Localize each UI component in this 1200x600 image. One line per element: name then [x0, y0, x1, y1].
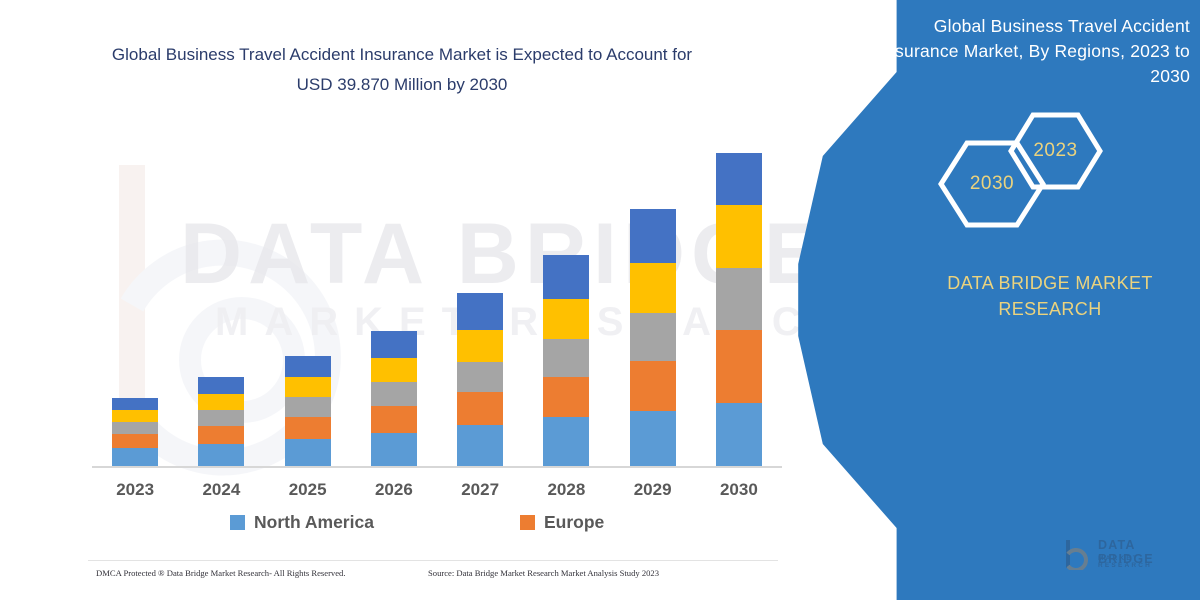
bar-segment-2027-2[interactable] — [457, 392, 503, 425]
bar-segment-2030-3[interactable] — [716, 268, 762, 330]
panel-logo-tagline: MARKET RESEARCH — [1098, 555, 1192, 569]
bar-segment-2030-4[interactable] — [716, 205, 762, 268]
bar-segment-2029-2[interactable] — [630, 361, 676, 411]
bar-segment-2027-4[interactable] — [457, 330, 503, 362]
bar-segment-2026-2[interactable] — [371, 406, 417, 433]
bar-2024[interactable] — [198, 377, 244, 466]
bar-2025[interactable] — [285, 356, 331, 466]
legend-label: North America — [254, 512, 374, 533]
x-axis-labels: 20232024202520262027202820292030 — [92, 480, 782, 506]
bar-segment-2023-4[interactable] — [112, 410, 158, 422]
bar-2026[interactable] — [371, 331, 417, 466]
bar-segment-2025-4[interactable] — [285, 377, 331, 397]
bar-segment-2030-5[interactable] — [716, 153, 762, 205]
x-axis-label-2026: 2026 — [359, 480, 429, 500]
hex-badge-2030: 2030 — [938, 140, 1046, 228]
bar-segment-2029-1[interactable] — [630, 411, 676, 466]
bar-segment-2023-1[interactable] — [112, 448, 158, 466]
chart-legend: North AmericaEurope — [230, 512, 700, 540]
legend-item-north-america[interactable]: North America — [230, 512, 374, 533]
bar-segment-2024-1[interactable] — [198, 444, 244, 466]
hex-badge-group: 2023 2030 — [930, 112, 1110, 222]
x-axis-label-2027: 2027 — [445, 480, 515, 500]
bar-segment-2026-5[interactable] — [371, 331, 417, 358]
panel-title: Global Business Travel Accident Insuranc… — [860, 14, 1190, 89]
bar-segment-2024-2[interactable] — [198, 426, 244, 444]
x-axis-label-2028: 2028 — [531, 480, 601, 500]
bar-segment-2025-5[interactable] — [285, 356, 331, 377]
bar-segment-2024-4[interactable] — [198, 394, 244, 410]
bar-segment-2029-4[interactable] — [630, 263, 676, 313]
panel-logo: DATA BRIDGE MARKET RESEARCH — [1062, 536, 1192, 576]
bar-segment-2030-2[interactable] — [716, 330, 762, 403]
bar-segment-2026-1[interactable] — [371, 433, 417, 466]
hex-badge-2023-label: 2023 — [1033, 140, 1077, 162]
bar-segment-2024-5[interactable] — [198, 377, 244, 394]
bar-segment-2027-3[interactable] — [457, 362, 503, 392]
bar-group — [92, 120, 782, 466]
x-axis-label-2024: 2024 — [186, 480, 256, 500]
chart-plot-area — [92, 120, 782, 470]
bar-2030[interactable] — [716, 153, 762, 466]
bar-segment-2028-1[interactable] — [543, 417, 589, 466]
bar-segment-2025-2[interactable] — [285, 417, 331, 439]
bar-2029[interactable] — [630, 209, 676, 466]
footer-source: Source: Data Bridge Market Research Mark… — [428, 568, 659, 578]
bar-segment-2027-1[interactable] — [457, 425, 503, 466]
bar-segment-2027-5[interactable] — [457, 293, 503, 330]
bar-segment-2028-2[interactable] — [543, 377, 589, 417]
bar-2027[interactable] — [457, 293, 503, 466]
x-axis-label-2023: 2023 — [100, 480, 170, 500]
infographic-canvas: DATA BRIDGE MARKET RESEARCH Global Busin… — [0, 0, 1200, 600]
panel-brand-name: DATA BRIDGE MARKET RESEARCH — [905, 270, 1195, 322]
x-axis-label-2025: 2025 — [273, 480, 343, 500]
x-axis-line — [92, 466, 782, 468]
bar-segment-2028-5[interactable] — [543, 255, 589, 299]
legend-swatch-icon — [520, 515, 535, 530]
bar-segment-2023-2[interactable] — [112, 434, 158, 448]
bar-segment-2026-4[interactable] — [371, 358, 417, 382]
bar-2023[interactable] — [112, 398, 158, 466]
bar-segment-2025-3[interactable] — [285, 397, 331, 417]
bar-segment-2028-3[interactable] — [543, 339, 589, 377]
bar-2028[interactable] — [543, 255, 589, 466]
footer-copyright: DMCA Protected ® Data Bridge Market Rese… — [96, 568, 346, 578]
bar-segment-2029-5[interactable] — [630, 209, 676, 263]
bar-segment-2026-3[interactable] — [371, 382, 417, 406]
hex-badge-2030-label: 2030 — [970, 173, 1014, 195]
bar-segment-2023-5[interactable] — [112, 398, 158, 410]
bar-segment-2023-3[interactable] — [112, 422, 158, 434]
chart-title: Global Business Travel Accident Insuranc… — [92, 40, 712, 100]
x-axis-label-2029: 2029 — [618, 480, 688, 500]
x-axis-label-2030: 2030 — [704, 480, 774, 500]
bar-segment-2030-1[interactable] — [716, 403, 762, 466]
bar-segment-2028-4[interactable] — [543, 299, 589, 339]
data-bridge-logo-icon — [1062, 538, 1092, 570]
footer-divider — [88, 560, 778, 561]
bar-segment-2024-3[interactable] — [198, 410, 244, 426]
bar-segment-2029-3[interactable] — [630, 313, 676, 361]
legend-item-europe[interactable]: Europe — [520, 512, 604, 533]
legend-swatch-icon — [230, 515, 245, 530]
legend-label: Europe — [544, 512, 604, 533]
bar-segment-2025-1[interactable] — [285, 439, 331, 466]
